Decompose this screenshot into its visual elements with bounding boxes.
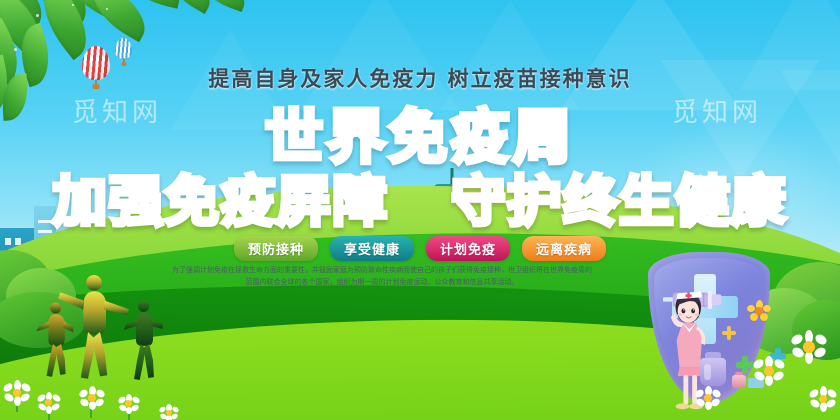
poster-body-text: 为了强调计划免疫在拯救生命方面的重要性，并鼓励家庭为预防致命性疾病而使自己的孩子…: [172, 265, 592, 288]
poster-subtitle: 提高自身及家人免疫力 树立疫苗接种意识: [0, 63, 840, 93]
daisy-flower: [80, 386, 104, 410]
sky-facet-5: [300, 0, 460, 110]
daisy-flower: [696, 386, 720, 410]
badge-planned-immunization[interactable]: 计划免疫: [426, 236, 510, 261]
vaccine-vial-small: [732, 372, 746, 388]
badge-away-from-disease[interactable]: 远离疾病: [522, 236, 606, 261]
sky-facet-4: [440, 0, 580, 110]
secondary-title-part-a: 加强免疫屏障: [53, 170, 389, 233]
poster-canvas: 觅知网 觅知网 觅知网 觅知网: [0, 0, 840, 420]
daisy-flower: [748, 300, 770, 322]
daisy-flower: [810, 386, 836, 412]
secondary-title-part-b: 守护终生健康: [451, 170, 787, 233]
daisy-flower: [4, 380, 30, 406]
daisy-flower: [160, 404, 178, 420]
badge-row: 预防接种 享受健康 计划免疫 远离疾病: [0, 236, 840, 261]
badge-prevention-vaccination[interactable]: 预防接种: [234, 236, 318, 261]
vaccine-bottle: [700, 352, 726, 386]
poster-secondary-title: 加强免疫屏障 守护终生健康: [0, 175, 840, 229]
balloon-envelope: [115, 38, 132, 59]
daisy-flower: [119, 394, 139, 414]
poster-main-title: 世界免疫周: [0, 108, 840, 166]
daisy-flower: [754, 356, 784, 386]
runner-child-left: [32, 300, 82, 378]
badge-enjoy-health[interactable]: 享受健康: [330, 236, 414, 261]
blue-striped-balloon: [115, 38, 132, 59]
daisy-flower: [792, 330, 826, 364]
runner-adult-right: [118, 298, 170, 382]
daisy-flower: [38, 392, 60, 414]
